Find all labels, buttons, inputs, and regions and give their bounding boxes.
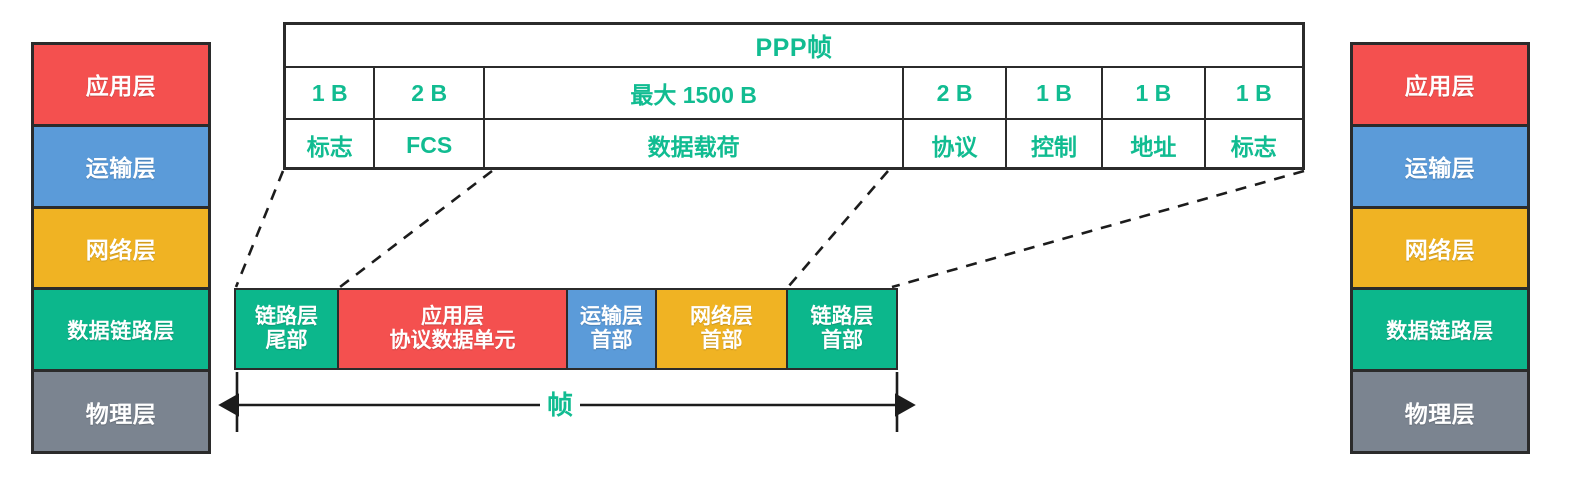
frame-block-line2: 协议数据单元 [390, 329, 516, 353]
dashed-connector-flag-to-trailer [236, 171, 283, 287]
frame-block-datalink-trailer: 链路层 尾部 [234, 288, 339, 370]
layer-cell-network-left: 网络层 [34, 209, 208, 291]
layer-cell-application-right: 应用层 [1353, 45, 1527, 127]
layer-label: 运输层 [1405, 149, 1476, 183]
encapsulated-frame-blocks: 链路层 尾部 应用层 协议数据单元 运输层 首部 网络层 首部 链路层 首部 [234, 288, 898, 370]
layer-cell-physical-right: 物理层 [1353, 372, 1527, 451]
frame-block-application-pdu: 应用层 协议数据单元 [337, 288, 568, 370]
dashed-connector-payload-start-to-pdu [340, 171, 492, 287]
ppp-field-size: 2 B [904, 68, 1004, 120]
frame-block-datalink-header: 链路层 首部 [786, 288, 898, 370]
frame-block-line2: 首部 [591, 329, 633, 353]
protocol-layer-stack-left: 应用层 运输层 网络层 数据链路层 物理层 [31, 42, 211, 454]
ppp-field-size: 最大 1500 B [485, 68, 903, 120]
layer-cell-datalink-right: 数据链路层 [1353, 290, 1527, 372]
layer-label: 网络层 [86, 231, 157, 265]
layer-cell-transport-left: 运输层 [34, 127, 208, 209]
frame-block-line1: 应用层 [421, 305, 484, 329]
ppp-frame-title: PPP帧 [286, 25, 1302, 68]
ppp-field-payload: 最大 1500 B 数据载荷 [485, 68, 905, 170]
frame-span-label: 帧 [540, 385, 580, 422]
ppp-field-name: 控制 [1007, 120, 1101, 170]
layer-cell-application-left: 应用层 [34, 45, 208, 127]
protocol-layer-stack-right: 应用层 运输层 网络层 数据链路层 物理层 [1350, 42, 1530, 454]
ppp-field-name: 地址 [1103, 120, 1203, 170]
ppp-field-control: 1 B 控制 [1007, 68, 1103, 170]
ppp-field-size: 1 B [1007, 68, 1101, 120]
ppp-field-size: 1 B [1206, 68, 1302, 120]
layer-label: 物理层 [86, 395, 157, 429]
layer-label: 网络层 [1405, 231, 1476, 265]
frame-block-line1: 运输层 [580, 305, 643, 329]
frame-block-line1: 链路层 [811, 305, 874, 329]
layer-cell-physical-left: 物理层 [34, 372, 208, 451]
layer-label: 物理层 [1405, 395, 1476, 429]
frame-block-line1: 网络层 [690, 305, 753, 329]
ppp-field-grid: 1 B 标志 2 B FCS 最大 1500 B 数据载荷 2 B 协议 1 B… [286, 68, 1302, 170]
frame-block-transport-header: 运输层 首部 [566, 288, 657, 370]
ppp-field-name: 标志 [286, 120, 373, 170]
ppp-field-size: 1 B [286, 68, 373, 120]
ppp-field-name: 数据载荷 [485, 120, 903, 170]
ppp-field-name: FCS [375, 120, 482, 170]
ppp-frame-table: PPP帧 1 B 标志 2 B FCS 最大 1500 B 数据载荷 2 B 协… [283, 22, 1305, 170]
layer-label: 应用层 [86, 67, 157, 101]
ppp-field-protocol: 2 B 协议 [904, 68, 1006, 170]
ppp-field-size: 2 B [375, 68, 482, 120]
frame-block-line2: 尾部 [266, 329, 308, 353]
layer-cell-datalink-left: 数据链路层 [34, 290, 208, 372]
ppp-field-flag-end: 1 B 标志 [1206, 68, 1302, 170]
ppp-field-size: 1 B [1103, 68, 1203, 120]
ppp-field-fcs: 2 B FCS [375, 68, 484, 170]
ppp-field-name: 协议 [904, 120, 1004, 170]
layer-cell-network-right: 网络层 [1353, 209, 1527, 291]
frame-block-line1: 链路层 [255, 305, 318, 329]
ppp-field-name: 标志 [1206, 120, 1302, 170]
diagram-canvas: 应用层 运输层 网络层 数据链路层 物理层 应用层 运输层 网络层 数据链路层 … [0, 0, 1581, 483]
ppp-field-address: 1 B 地址 [1103, 68, 1205, 170]
dashed-connector-payload-end-to-datalink-header [788, 171, 888, 287]
ppp-frame-title-label: PPP帧 [755, 28, 832, 64]
dashed-connector-flag-end-to-frame-end [892, 171, 1304, 287]
layer-label: 运输层 [86, 149, 157, 183]
ppp-field-flag-start: 1 B 标志 [286, 68, 375, 170]
layer-cell-transport-right: 运输层 [1353, 127, 1527, 209]
frame-block-line2: 首部 [701, 329, 743, 353]
frame-block-network-header: 网络层 首部 [655, 288, 788, 370]
layer-label: 数据链路层 [67, 315, 175, 345]
layer-label: 数据链路层 [1386, 315, 1494, 345]
layer-label: 应用层 [1405, 67, 1476, 101]
frame-block-line2: 首部 [821, 329, 863, 353]
